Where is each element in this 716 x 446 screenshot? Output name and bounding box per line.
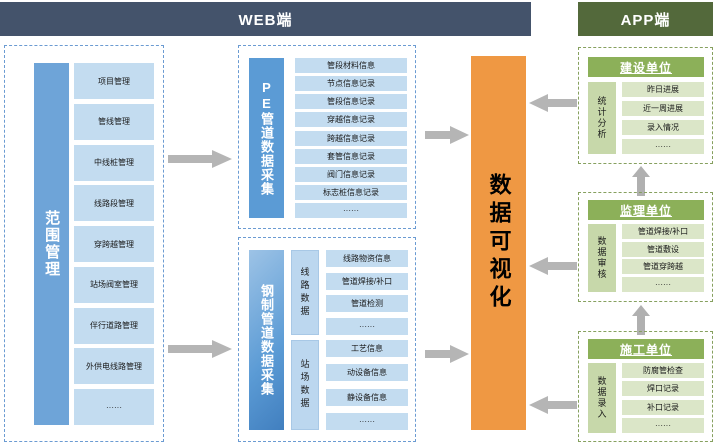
list-item-more[interactable]: ······ — [622, 418, 704, 433]
steel-station-item-label: 静设备信息 — [347, 392, 387, 403]
steel-station-item-label: ······ — [359, 417, 375, 426]
list-item[interactable]: 管道焊接/补口 — [622, 224, 704, 239]
supervision-unit-side-bar[interactable]: 数据审核 — [588, 224, 616, 292]
list-item[interactable]: 穿越信息记录 — [295, 112, 407, 127]
scope-item-label: 中线桩管理 — [94, 157, 134, 168]
steel-line-item-label: ······ — [359, 322, 375, 331]
construction-unit-title[interactable]: 施工单位 — [588, 339, 704, 359]
steel-collection-bar[interactable]: 钢制管道数据采集 — [249, 250, 284, 430]
scope-management-bar[interactable]: 范围管理 — [34, 63, 69, 425]
steel-line-data-bar[interactable]: 线路数据 — [291, 250, 319, 335]
pe-item-label: 阀门信息记录 — [327, 169, 375, 180]
supervision-unit-item-label: 管道敷设 — [647, 244, 679, 255]
list-item[interactable]: 焊口记录 — [622, 381, 704, 396]
web-header-bar: WEB端 — [0, 2, 531, 36]
pe-item-label: 穿越信息记录 — [327, 114, 375, 125]
list-item[interactable]: 节点信息记录 — [295, 76, 407, 91]
arrow-super-to-viz-icon — [529, 257, 577, 275]
list-item-more[interactable]: ······ — [622, 139, 704, 154]
list-item-more[interactable]: ······ — [622, 277, 704, 292]
list-item[interactable]: 套管信息记录 — [295, 149, 407, 164]
steel-station-item-list: 工艺信息 动设备信息 静设备信息 ······ — [326, 340, 408, 430]
pe-item-label: ······ — [343, 206, 359, 215]
steel-collection-label: 钢制管道数据采集 — [257, 284, 276, 396]
list-item[interactable]: 补口记录 — [622, 400, 704, 415]
pe-item-label: 跨越信息记录 — [327, 133, 375, 144]
scope-item-label: 伴行道路管理 — [90, 320, 138, 331]
list-item[interactable]: 伴行道路管理 — [74, 308, 154, 344]
arrow-scope-to-pe-icon — [168, 150, 234, 168]
list-item-more[interactable]: ······ — [326, 318, 408, 335]
scope-management-label: 范围管理 — [43, 210, 60, 278]
build-unit-item-label: 近一周进展 — [643, 103, 683, 114]
data-visualization-block[interactable]: 数据可视化 — [471, 56, 526, 430]
list-item[interactable]: 录入情况 — [622, 120, 704, 135]
pe-item-list: 管段材料信息 节点信息记录 管段信息记录 穿越信息记录 跨越信息记录 套管信息记… — [295, 58, 407, 218]
list-item[interactable]: 工艺信息 — [326, 340, 408, 357]
steel-line-item-label: 管道检测 — [351, 298, 383, 309]
list-item[interactable]: 中线桩管理 — [74, 145, 154, 181]
app-header-bar: APP端 — [578, 2, 713, 36]
supervision-unit-item-list: 管道焊接/补口 管道敷设 管道穿跨越 ······ — [622, 224, 704, 292]
supervision-unit-item-label: 管道穿跨越 — [643, 261, 683, 272]
data-visualization-label: 数据可视化 — [483, 173, 515, 313]
supervision-unit-title-label: 监理单位 — [620, 202, 672, 219]
construction-unit-item-label: ······ — [655, 421, 671, 430]
list-item[interactable]: 阀门信息记录 — [295, 167, 407, 182]
arrow-build-to-viz-icon — [529, 94, 577, 112]
arrow-steel-to-viz-icon — [425, 345, 470, 363]
list-item[interactable]: 穿跨越管理 — [74, 226, 154, 262]
build-unit-title-label: 建设单位 — [620, 59, 672, 76]
list-item[interactable]: 管道焊接/补口 — [326, 273, 408, 290]
supervision-unit-item-label: ······ — [655, 280, 671, 289]
construction-unit-item-label: 防腐管检查 — [643, 365, 683, 376]
build-unit-side-bar[interactable]: 统计分析 — [588, 82, 616, 154]
scope-item-list: 项目管理 管线管理 中线桩管理 线路段管理 穿跨越管理 站场阀室管理 伴行道路管… — [74, 63, 154, 425]
list-item[interactable]: 线路段管理 — [74, 185, 154, 221]
build-unit-item-label: 昨日进展 — [647, 84, 679, 95]
construction-unit-item-list: 防腐管检查 焊口记录 补口记录 ······ — [622, 363, 704, 433]
list-item[interactable]: 外供电线路管理 — [74, 348, 154, 384]
list-item[interactable]: 静设备信息 — [326, 389, 408, 406]
construction-unit-side-label: 数据录入 — [596, 376, 609, 420]
scope-item-label: 站场阀室管理 — [90, 279, 138, 290]
list-item-more[interactable]: ······ — [295, 203, 407, 218]
build-unit-item-list: 昨日进展 近一周进展 录入情况 ······ — [622, 82, 704, 154]
list-item[interactable]: 跨越信息记录 — [295, 131, 407, 146]
arrow-pe-to-viz-icon — [425, 126, 470, 144]
list-item[interactable]: 近一周进展 — [622, 101, 704, 116]
web-header-label: WEB端 — [239, 9, 293, 30]
scope-item-label: 穿跨越管理 — [94, 239, 134, 250]
steel-line-item-list: 线路物资信息 管道焊接/补口 管道检测 ······ — [326, 250, 408, 335]
pe-collection-label: PE管道数据采集 — [257, 80, 276, 196]
steel-station-item-label: 工艺信息 — [351, 343, 383, 354]
pe-item-label: 标志桩信息记录 — [323, 187, 379, 198]
build-unit-item-label: ······ — [655, 142, 671, 151]
list-item[interactable]: 线路物资信息 — [326, 250, 408, 267]
construction-unit-side-bar[interactable]: 数据录入 — [588, 363, 616, 433]
list-item[interactable]: 管线管理 — [74, 104, 154, 140]
steel-line-item-label: 线路物资信息 — [343, 253, 391, 264]
list-item[interactable]: 管段材料信息 — [295, 58, 407, 73]
scope-item-label: 外供电线路管理 — [86, 361, 142, 372]
list-item[interactable]: 管道穿跨越 — [622, 259, 704, 274]
list-item-more[interactable]: ······ — [326, 413, 408, 430]
supervision-unit-item-label: 管道焊接/补口 — [638, 226, 688, 237]
construction-unit-item-label: 补口记录 — [647, 402, 679, 413]
steel-station-data-bar[interactable]: 站场数据 — [291, 340, 319, 430]
pe-item-label: 管段材料信息 — [327, 60, 375, 71]
steel-station-item-label: 动设备信息 — [347, 367, 387, 378]
scope-item-label: 线路段管理 — [94, 198, 134, 209]
app-header-label: APP端 — [621, 9, 671, 30]
build-unit-title[interactable]: 建设单位 — [588, 57, 704, 77]
list-item[interactable]: 标志桩信息记录 — [295, 185, 407, 200]
list-item[interactable]: 管道敷设 — [622, 242, 704, 257]
list-item[interactable]: 防腐管检查 — [622, 363, 704, 378]
pe-item-label: 套管信息记录 — [327, 151, 375, 162]
construction-unit-title-label: 施工单位 — [620, 341, 672, 358]
scope-item-label: 项目管理 — [98, 76, 130, 87]
supervision-unit-title[interactable]: 监理单位 — [588, 200, 704, 220]
list-item[interactable]: 管道检测 — [326, 295, 408, 312]
steel-station-data-label: 站场数据 — [299, 359, 312, 411]
list-item[interactable]: 项目管理 — [74, 63, 154, 99]
build-unit-item-label: 录入情况 — [647, 122, 679, 133]
pe-item-label: 节点信息记录 — [327, 78, 375, 89]
list-item[interactable]: 管段信息记录 — [295, 94, 407, 109]
steel-line-item-label: 管道焊接/补口 — [342, 276, 392, 287]
construction-unit-item-label: 焊口记录 — [647, 383, 679, 394]
list-item-more[interactable]: ······ — [74, 389, 154, 425]
arrow-scope-to-steel-icon — [168, 340, 234, 358]
supervision-unit-side-label: 数据审核 — [596, 236, 609, 280]
pe-collection-bar[interactable]: PE管道数据采集 — [249, 58, 284, 218]
scope-item-label: ······ — [106, 403, 122, 412]
list-item[interactable]: 昨日进展 — [622, 82, 704, 97]
pe-item-label: 管段信息记录 — [327, 96, 375, 107]
build-unit-side-label: 统计分析 — [596, 96, 609, 140]
arrow-constr-to-viz-icon — [529, 396, 577, 414]
steel-line-data-label: 线路数据 — [299, 267, 312, 319]
scope-item-label: 管线管理 — [98, 116, 130, 127]
list-item[interactable]: 站场阀室管理 — [74, 267, 154, 303]
list-item[interactable]: 动设备信息 — [326, 364, 408, 381]
